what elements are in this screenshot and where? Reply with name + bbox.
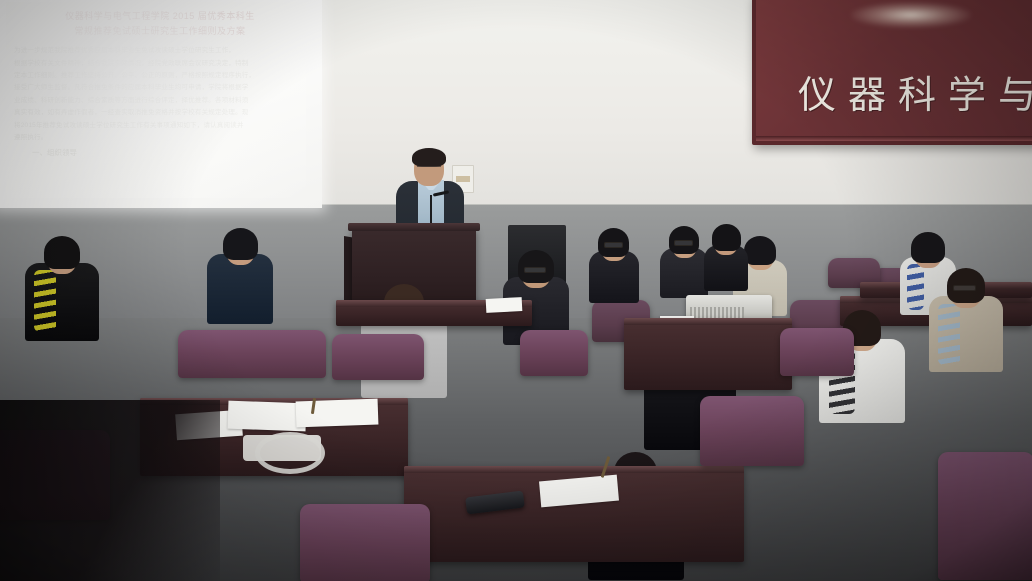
slide-body: 为进一步规范我院推荐优秀应届本科毕业生免试攻读硕士学位研究生工作， 根据学校有关… xyxy=(14,46,306,142)
slide-body-line: 业成绩、科研创新能力、综合素质等方面进行综合评定，择优推荐。各项材料须 xyxy=(14,96,306,105)
chair-front-center xyxy=(300,504,430,581)
slide-body-line: 定本工作细则。推荐工作坚持公开、公平、公正的原则，严格按照规定程序执行， xyxy=(14,71,306,80)
hair xyxy=(712,224,741,251)
slide-title-line-2: 常规推荐免试硕士研究生工作细则及方案 xyxy=(14,25,306,38)
slide-content: 仪器科学与电气工程学院 2015 届优秀本科生 常规推荐免试硕士研究生工作细则及… xyxy=(14,10,306,159)
banner-light-reflection xyxy=(851,2,971,28)
slide-body-line: 遵照执行。 xyxy=(14,133,306,142)
attendee-beige-vest-glasses xyxy=(929,268,1003,382)
hair xyxy=(744,236,776,265)
slide-section-heading: 一、组织领导 xyxy=(14,148,306,159)
chair-mid-1 xyxy=(178,330,326,378)
presenter-glasses xyxy=(417,166,441,172)
department-banner: 仪器科学与 xyxy=(752,0,1032,145)
lectern-top-edge xyxy=(348,223,480,231)
garment-accent xyxy=(907,264,924,310)
presenter-hair xyxy=(412,148,446,167)
slide-title-line-1: 仪器科学与电气工程学院 2015 届优秀本科生 xyxy=(14,10,306,23)
papers-on-desk xyxy=(486,297,523,313)
chair-mid-2 xyxy=(332,334,424,380)
garment-accent xyxy=(938,304,960,365)
slide-body-line: 根据学校有关文件精神，结合我院实际情况，经院党政联席会议研究决定，特制 xyxy=(14,59,306,68)
chair-front-far-right xyxy=(938,452,1032,580)
attendee-dark-top-rear xyxy=(704,224,748,299)
desk-surface xyxy=(404,466,744,473)
attendee-glasses-back-mid xyxy=(660,226,708,306)
slide-body-line: 真实有效，如有弄虚作假者，一经查实取消推免资格并按学校有关规定处理。现 xyxy=(14,108,306,117)
slide-body-line: 将2015年推荐免试攻读硕士学位研究生工作有关事项通知如下，请认真阅读并 xyxy=(14,121,306,130)
desk-row-projector xyxy=(624,318,792,390)
eyeglasses-icon xyxy=(674,240,693,246)
banner-frame-edge xyxy=(756,136,1032,141)
slide-body-line: 为进一步规范我院推荐优秀应届本科毕业生免试攻读硕士学位研究生工作， xyxy=(14,46,306,55)
chair-mid-4 xyxy=(780,328,854,376)
banner-text: 仪器科学与 xyxy=(798,64,1032,119)
chair-front-right xyxy=(700,396,804,466)
hair xyxy=(223,228,258,260)
attendee-glasses-back-left xyxy=(589,228,639,311)
eyeglasses-icon xyxy=(524,267,546,273)
garment-accent xyxy=(34,270,56,332)
hair xyxy=(911,232,945,263)
attendee-navy-sweater-left xyxy=(207,228,273,333)
papers-front-left-2 xyxy=(228,401,307,432)
attendee-black-yellow-jacket xyxy=(25,236,99,350)
slide-body-line: 接受广大师生监督。凡符合推免条件的应届本科毕业生均可申请，学院将根据学 xyxy=(14,83,306,92)
chair-front-left xyxy=(0,430,110,520)
projection-screen: 仪器科学与电气工程学院 2015 届优秀本科生 常规推荐免试硕士研究生工作细则及… xyxy=(0,0,322,208)
eyeglasses-icon xyxy=(953,285,976,291)
papers-front-left-3 xyxy=(296,399,379,428)
eyeglasses-icon xyxy=(604,242,623,248)
desk-surface xyxy=(624,318,792,325)
coiled-cable xyxy=(255,432,325,474)
chair-mid-3 xyxy=(520,330,588,376)
hair xyxy=(44,236,80,269)
lecture-hall-photo: 仪器科学与电气工程学院 2015 届优秀本科生 常规推荐免试硕士研究生工作细则及… xyxy=(0,0,1032,581)
